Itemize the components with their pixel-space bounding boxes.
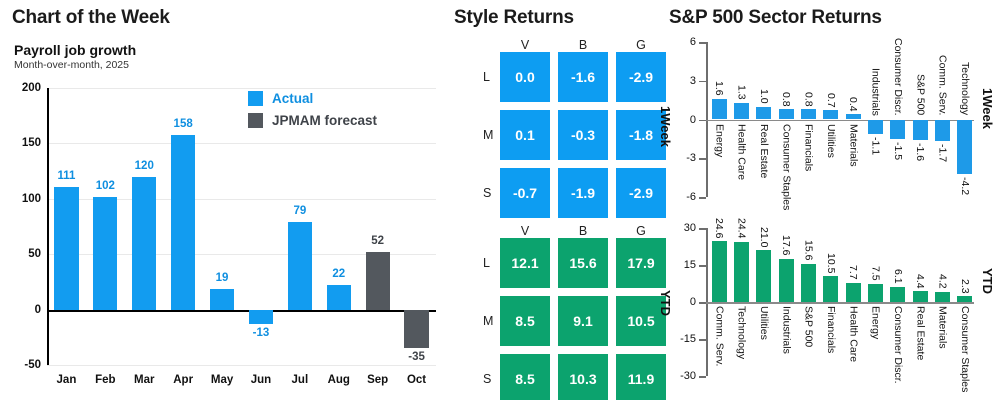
x-axis-tick-sep: Sep [367,374,388,386]
sector-1week-bar-chart: 630-3-61.6Energy1.3Health Care1.0Real Es… [706,42,974,197]
bar-aug [327,285,351,309]
bar-value-label: -1.7 [937,144,949,162]
style-cell: 0.1 [500,110,550,160]
y-axis-tick-mark [699,265,706,267]
bar-value-label: 158 [174,118,193,130]
bar-value-label: 24.6 [713,218,725,238]
bar-value-label: 21.0 [758,227,770,247]
y-axis-tick-label: -15 [680,333,696,345]
bar-value-label: 120 [135,160,154,172]
bar-consumer-discr- [890,287,905,302]
zero-line [47,310,436,312]
x-axis-category-label: Utilities [825,124,836,158]
bar-health-care [734,103,749,120]
legend-swatch-forecast-icon [248,113,263,128]
bar-s-p-500 [801,264,816,302]
bar-jul [288,222,312,310]
bar-real-estate [756,107,771,120]
legend-item-forecast: JPMAM forecast [248,113,377,128]
payroll-panel: Chart of the Week Payroll job growth Mon… [0,0,444,400]
y-axis-tick-label: 200 [22,82,41,94]
bar-sep [366,252,390,310]
legend-swatch-actual-icon [248,91,263,106]
gridline [47,88,436,89]
bar-value-label: 19 [216,272,229,284]
style-cell: 15.6 [558,238,608,288]
bar-mar [132,177,156,310]
y-axis-tick-label: 15 [684,259,696,271]
y-axis-tick-label: 100 [22,193,41,205]
bar-value-label: 102 [96,180,115,192]
style-cell: -0.3 [558,110,608,160]
bar-s-p-500 [913,120,928,141]
payroll-chart-title: Payroll job growth [14,42,136,58]
legend-label-actual: Actual [272,91,313,106]
bar-value-label: -35 [408,351,425,363]
sector-ytd-side-label: YTD [980,268,995,294]
payroll-header: Payroll job growth Month-over-month, 202… [14,42,136,71]
dashboard-page: Chart of the Week Payroll job growth Mon… [0,0,1004,400]
bar-feb [93,197,117,310]
sector-returns-panel: S&P 500 Sector Returns 630-3-61.6Energy1… [644,0,1004,400]
bar-value-label: -1.5 [892,142,904,160]
x-axis-category-label: Health Care [736,124,747,180]
style-cell: 10.3 [558,354,608,400]
style-cell: -1.9 [558,168,608,218]
style-returns-panel: Style Returns VBGL0.0-1.6-2.9M0.1-0.3-1.… [444,0,644,400]
bar-financials [801,109,816,119]
y-axis-tick-label: -30 [680,370,696,382]
x-axis-category-label: Financials [825,306,836,353]
bar-jan [54,187,78,310]
bar-energy [868,284,883,303]
style-row-header-m: M [483,314,493,328]
bar-value-label: 1.3 [736,85,748,100]
bar-value-label: 0.8 [780,92,792,107]
y-axis-tick-label: 150 [22,137,41,149]
bar-value-label: 15.6 [803,240,815,260]
style-cell: 12.1 [500,238,550,288]
bar-comm-serv- [935,120,950,142]
x-axis-category-label: Consumer Discr. [892,306,903,384]
bar-consumer-discr- [890,120,905,139]
style-col-header-b: B [558,38,608,52]
y-axis-tick-label: 6 [690,36,696,48]
y-axis-tick-mark [699,120,706,122]
bar-value-label: 79 [293,205,306,217]
legend-label-forecast: JPMAM forecast [272,113,377,128]
bar-value-label: 6.1 [892,269,904,284]
style-row-header-m: M [483,128,493,142]
x-axis-category-label: Utilities [758,306,769,340]
x-axis-category-label: Comm. Serv. [713,306,724,366]
gridline [47,365,436,366]
y-axis-tick-label: 0 [690,114,696,126]
zero-line [706,120,974,122]
y-axis-tick-mark [699,228,706,230]
bar-value-label: -1.1 [870,137,882,155]
x-axis-category-label: Industrials [870,68,881,116]
bar-health-care [846,283,861,302]
x-axis-category-label: Technology [959,62,970,115]
bar-apr [171,135,195,310]
bar-utilities [823,110,838,119]
bar-value-label: 17.6 [780,235,792,255]
bar-value-label: 0.7 [825,93,837,108]
x-axis-category-label: Technology [736,306,747,359]
bar-may [210,289,234,310]
x-axis-category-label: Consumer Staples [780,124,791,210]
bar-value-label: 111 [57,170,75,182]
bar-value-label: 52 [371,235,384,247]
y-axis-tick-label: -3 [686,152,696,164]
bar-value-label: -1.6 [914,143,926,161]
y-axis-tick-label: -6 [686,191,696,203]
bar-value-label: 24.4 [736,218,748,238]
x-axis-category-label: S&P 500 [803,306,814,347]
bar-industrials [868,120,883,134]
bar-value-label: -4.2 [959,177,971,195]
x-axis-tick-feb: Feb [95,374,115,386]
bar-value-label: 4.2 [937,274,949,289]
y-axis-tick-label: 50 [28,248,41,260]
y-axis-line [47,88,49,365]
y-axis-tick-mark [699,339,706,341]
bar-value-label: 0.4 [847,97,859,112]
chart-of-the-week-title: Chart of the Week [12,7,170,29]
payroll-chart-subtitle: Month-over-month, 2025 [14,59,136,71]
style-cell: 8.5 [500,354,550,400]
style-col-header-v: V [500,38,550,52]
x-axis-category-label: Materials [847,124,858,167]
sector-ytd-bar-chart: 30150-15-3024.6Comm. Serv.24.4Technology… [706,228,974,376]
bar-oct [404,310,428,349]
x-axis-tick-jul: Jul [292,374,309,386]
payroll-bar-chart: 200150100500-50111Jan102Feb120Mar158Apr1… [47,88,436,365]
x-axis-category-label: Industrials [780,306,791,354]
x-axis-category-label: Energy [870,306,881,339]
bar-technology [957,120,972,174]
style-cell: -1.6 [558,52,608,102]
style-col-header-v: V [500,224,550,238]
x-axis-category-label: Real Estate [758,124,769,178]
x-axis-tick-oct: Oct [407,374,426,386]
sector-1week-side-label: 1Week [980,88,995,129]
x-axis-category-label: Real Estate [914,306,925,360]
style-row-header-s: S [483,372,491,386]
bar-value-label: 0.8 [803,92,815,107]
zero-line [706,302,974,304]
style-cell: 0.0 [500,52,550,102]
y-axis-tick-mark [699,302,706,304]
style-row-header-s: S [483,186,491,200]
x-axis-tick-jun: Jun [251,374,271,386]
bar-utilities [756,250,771,302]
bar-materials [935,292,950,302]
x-axis-tick-jan: Jan [57,374,77,386]
y-axis-tick-mark [699,376,706,378]
x-axis-tick-mar: Mar [134,374,154,386]
style-row-header-l: L [483,70,490,84]
x-axis-tick-may: May [211,374,233,386]
bar-technology [734,242,749,302]
style-returns-title: Style Returns [454,7,574,29]
y-axis-tick-label: -50 [24,359,41,371]
bar-value-label: 22 [332,268,345,280]
bar-value-label: 1.0 [758,89,770,104]
y-axis-tick-mark [699,42,706,44]
y-axis-tick-label: 0 [35,304,41,316]
bar-industrials [779,259,794,302]
bar-value-label: -13 [253,327,270,339]
bar-jun [249,310,273,324]
bar-value-label: 2.3 [959,279,971,294]
bar-value-label: 7.7 [847,265,859,280]
bar-energy [712,99,727,120]
gridline [47,143,436,144]
style-cell: 9.1 [558,296,608,346]
bar-materials [846,114,861,119]
bar-consumer-staples [957,296,972,302]
x-axis-category-label: Consumer Discr. [892,38,903,116]
bar-value-label: 7.5 [870,266,882,281]
legend-item-actual: Actual [248,91,377,106]
bar-value-label: 10.5 [825,253,837,273]
x-axis-category-label: Consumer Staples [959,306,970,392]
bar-value-label: 4.4 [914,274,926,289]
y-axis-tick-label: 0 [690,296,696,308]
bar-real-estate [913,291,928,302]
bar-value-label: 1.6 [713,81,725,96]
x-axis-category-label: Health Care [847,306,858,362]
y-axis-tick-mark [699,197,706,199]
y-axis-tick-label: 3 [690,75,696,87]
bar-comm-serv- [712,241,727,302]
y-axis-tick-mark [699,81,706,83]
x-axis-category-label: Energy [713,124,724,157]
x-axis-tick-aug: Aug [328,374,350,386]
style-col-header-b: B [558,224,608,238]
y-axis-tick-label: 30 [684,222,696,234]
style-cell: 8.5 [500,296,550,346]
sector-returns-title: S&P 500 Sector Returns [669,7,882,29]
payroll-legend: Actual JPMAM forecast [248,91,377,135]
x-axis-category-label: Materials [937,306,948,349]
style-row-header-l: L [483,256,490,270]
x-axis-category-label: S&P 500 [914,74,925,115]
x-axis-tick-apr: Apr [173,374,193,386]
bar-consumer-staples [779,109,794,119]
bar-financials [823,276,838,302]
x-axis-category-label: Financials [803,124,814,171]
style-cell: -0.7 [500,168,550,218]
x-axis-category-label: Comm. Serv. [937,55,948,115]
y-axis-tick-mark [699,158,706,160]
